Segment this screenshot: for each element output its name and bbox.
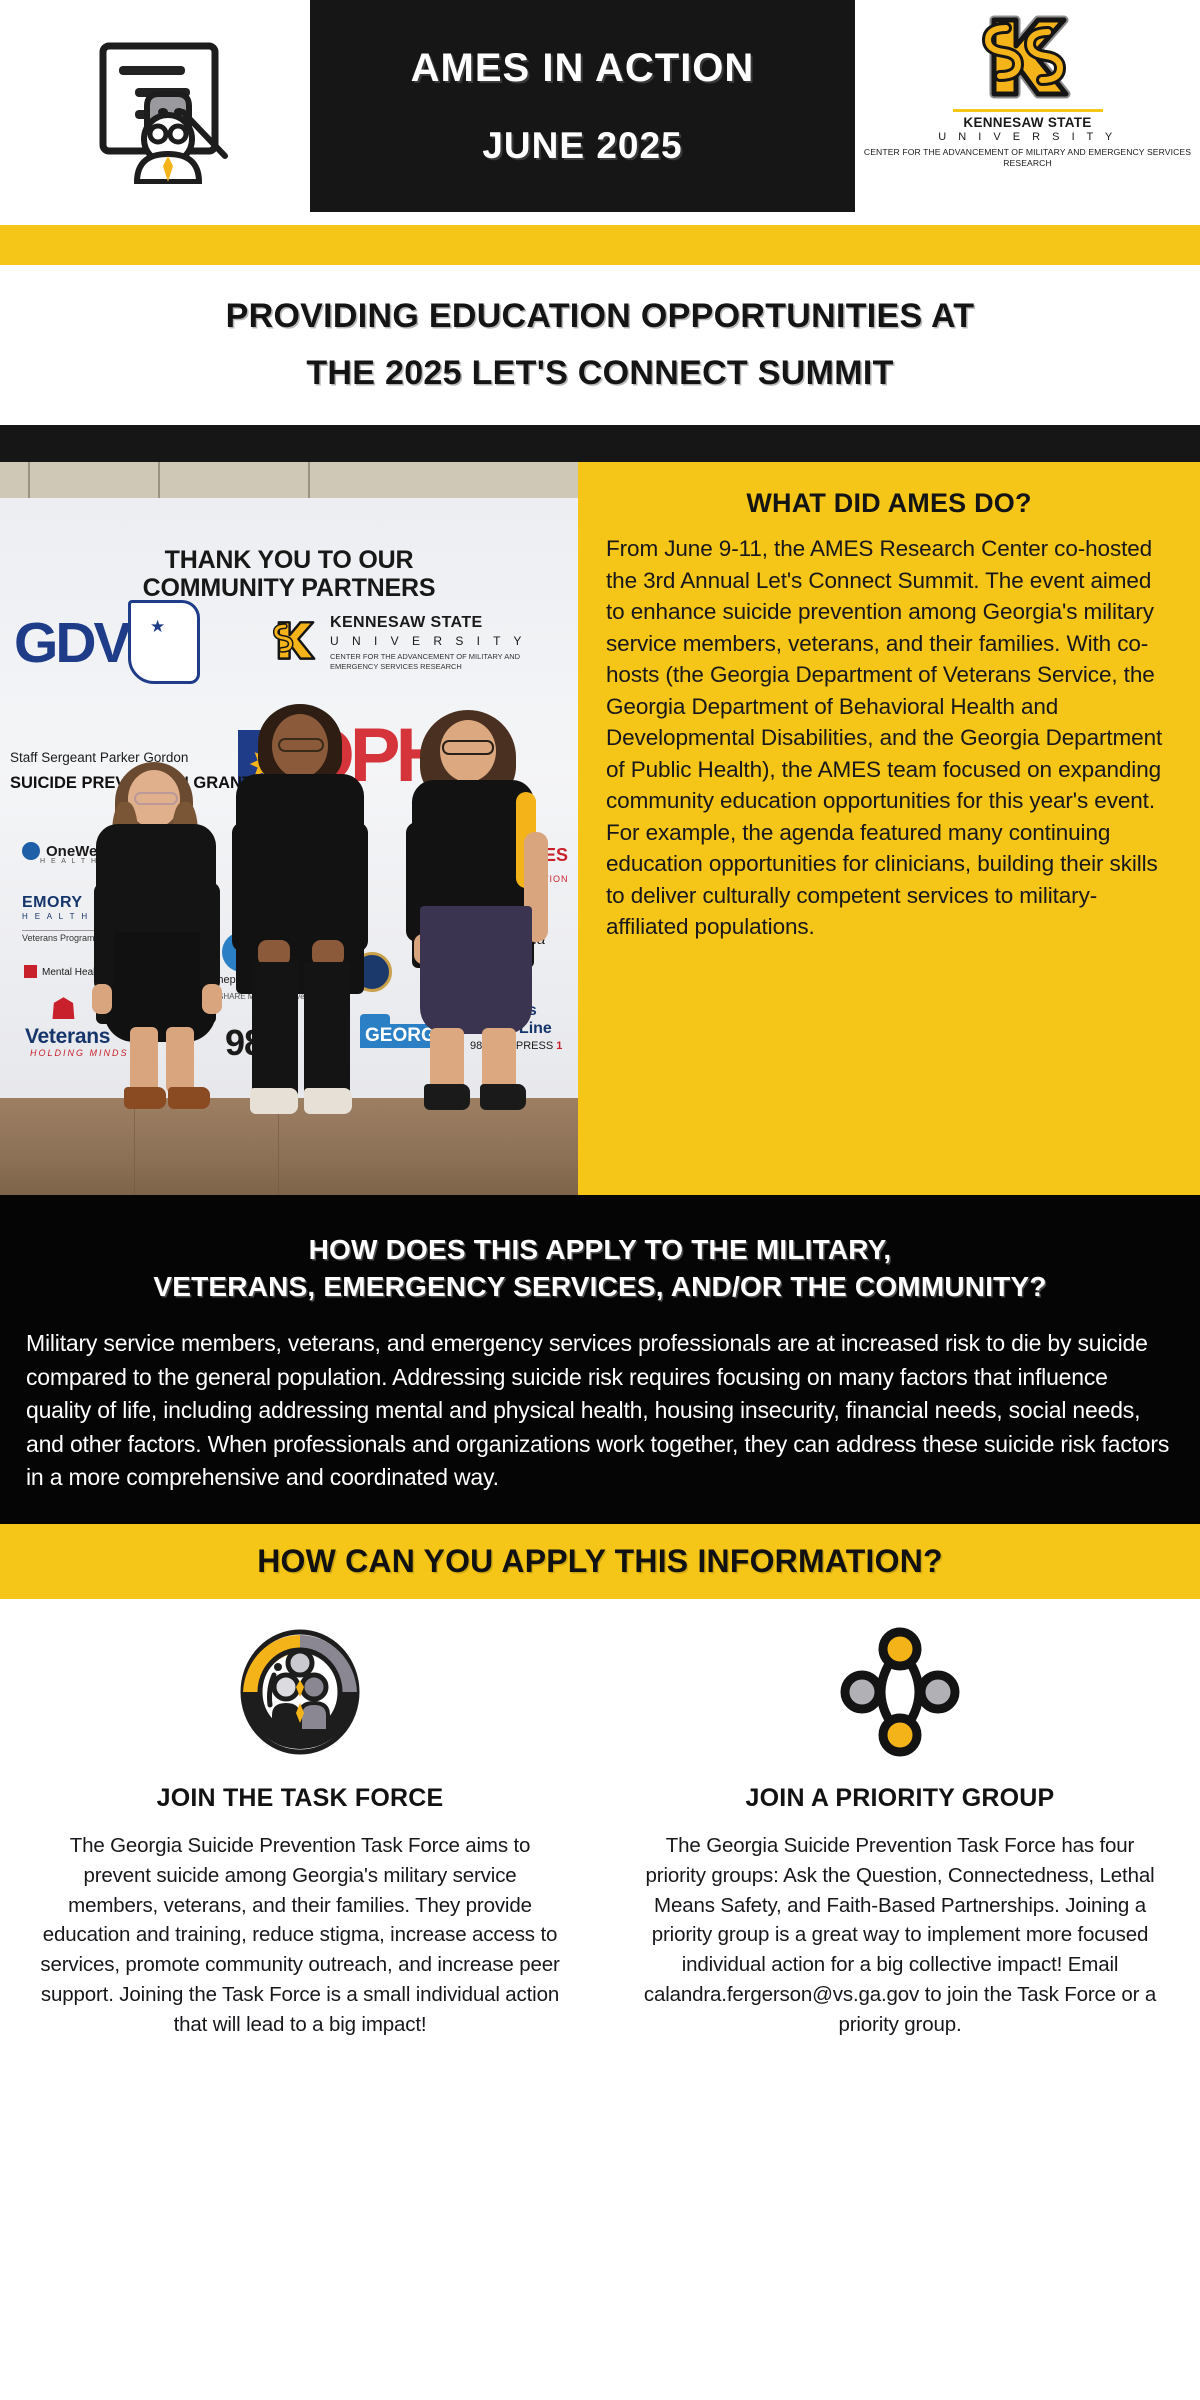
banner-ksu-university: U N I V E R S I T Y: [330, 634, 526, 648]
task-force-icon-container: [236, 1627, 364, 1762]
onewell-icon: [22, 842, 40, 860]
banner-heading-line-1: THANK YOU TO OUR: [165, 546, 414, 574]
ksu-logo-block: KENNESAW STATE U N I V E R S I T Y CENTE…: [855, 0, 1200, 225]
main-title-line-2: THE 2025 LET'S CONNECT SUMMIT: [306, 354, 893, 393]
header: AMES IN ACTION JUNE 2025 KENNESAW STATE …: [0, 0, 1200, 225]
banner-ksu-name: KENNESAW STATE: [330, 614, 483, 632]
how-can-you-apply-band: HOW CAN YOU APPLY THIS INFORMATION?: [0, 1524, 1200, 1599]
emory-logo: EMORY: [22, 894, 83, 912]
priority-group-icon-container: [840, 1627, 960, 1762]
how-can-you-apply-heading: HOW CAN YOU APPLY THIS INFORMATION?: [257, 1543, 943, 1580]
community-group-circle-icon: [236, 1627, 364, 1762]
banner-ksu-monogram-icon: [268, 614, 323, 666]
what-did-ames-do-panel: WHAT DID AMES DO? From June 9-11, the AM…: [578, 462, 1200, 1195]
photo-floor-seam: [134, 1098, 135, 1195]
page-date: JUNE 2025: [482, 125, 682, 167]
black-divider: [0, 425, 1200, 462]
network-nodes-icon: [840, 1627, 960, 1762]
gdvs-v: V: [94, 611, 129, 675]
what-did-ames-do-body: From June 9-11, the AMES Research Center…: [606, 533, 1172, 943]
banner-heading-line-2: COMMUNITY PARTNERS: [143, 574, 436, 602]
how-does-this-apply-body: Military service members, veterans, and …: [26, 1327, 1174, 1494]
action-columns: JOIN THE TASK FORCE The Georgia Suicide …: [0, 1599, 1200, 2039]
ksu-center-name: CENTER FOR THE ADVANCEMENT OF MILITARY A…: [855, 147, 1200, 169]
action-column-task-force: JOIN THE TASK FORCE The Georgia Suicide …: [0, 1627, 600, 2039]
presenter-whiteboard-icon: [75, 36, 235, 189]
task-force-body: The Georgia Suicide Prevention Task Forc…: [36, 1831, 564, 2039]
how-apply-heading-line-1: HOW DOES THIS APPLY TO THE MILITARY,: [309, 1234, 892, 1265]
georgia-state-outline-icon: [128, 600, 200, 684]
how-apply-heading-line-2: VETERANS, EMERGENCY SERVICES, AND/OR THE…: [153, 1271, 1046, 1302]
banner-ksu-center: CENTER FOR THE ADVANCEMENT OF MILITARY A…: [330, 652, 530, 672]
photo-ceiling-seam: [28, 462, 30, 498]
ksu-name: KENNESAW STATE: [963, 115, 1091, 130]
action-column-priority-group: JOIN A PRIORITY GROUP The Georgia Suicid…: [600, 1627, 1200, 2039]
priority-group-body: The Georgia Suicide Prevention Task Forc…: [636, 1831, 1164, 2039]
gdvs-gd: GD: [14, 611, 94, 675]
infographic-page: AMES IN ACTION JUNE 2025 KENNESAW STATE …: [0, 0, 1200, 2400]
banner-heading: THANK YOU TO OUR COMMUNITY PARTNERS: [0, 546, 578, 603]
mhfa-cross-icon: [24, 965, 37, 978]
header-icon-container: [0, 0, 310, 225]
task-force-title: JOIN THE TASK FORCE: [157, 1784, 444, 1813]
veterans-holding-minds-sub: HOLDING MINDS: [30, 1048, 129, 1058]
photo-and-summary-row: THANK YOU TO OUR COMMUNITY PARTNERS GDVS…: [0, 462, 1200, 1195]
how-does-this-apply-heading: HOW DOES THIS APPLY TO THE MILITARY, VET…: [26, 1231, 1174, 1305]
main-title-band: PROVIDING EDUCATION OPPORTUNITIES AT THE…: [0, 265, 1200, 425]
page-title: AMES IN ACTION: [411, 46, 755, 91]
priority-group-title: JOIN A PRIORITY GROUP: [746, 1784, 1055, 1813]
how-does-this-apply-section: HOW DOES THIS APPLY TO THE MILITARY, VET…: [0, 1195, 1200, 1524]
emory-veterans-program: Veterans Program: [22, 930, 95, 943]
veterans-holding-minds-logo: Veterans: [25, 1025, 110, 1049]
main-title-line-1: PROVIDING EDUCATION OPPORTUNITIES AT: [226, 297, 975, 336]
photo-ceiling: [0, 462, 578, 498]
ksu-university: U N I V E R S I T Y: [938, 131, 1116, 143]
logo-divider: [953, 109, 1103, 112]
veterans-figure-icon: ☗: [50, 992, 77, 1027]
yellow-divider-top: [0, 225, 1200, 265]
photo-ceiling-seam: [308, 462, 310, 498]
photo-ceiling-seam: [158, 462, 160, 498]
star-icon: ★: [150, 617, 165, 637]
what-did-ames-do-heading: WHAT DID AMES DO?: [606, 488, 1172, 519]
ksu-monogram-icon: [972, 6, 1084, 106]
header-title-block: AMES IN ACTION JUNE 2025: [310, 0, 855, 212]
lets-connect-summit-team-photo: THANK YOU TO OUR COMMUNITY PARTNERS GDVS…: [0, 462, 578, 1195]
